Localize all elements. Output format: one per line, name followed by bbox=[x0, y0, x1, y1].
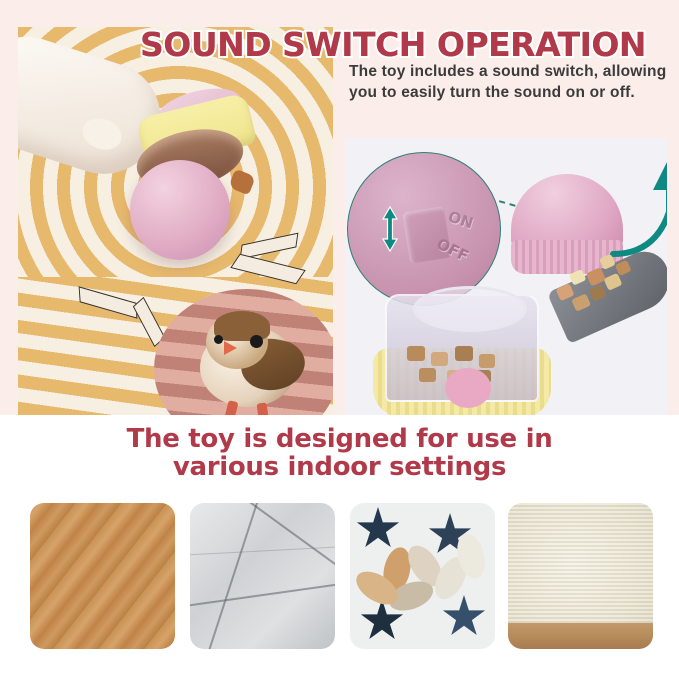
chamber-rim bbox=[413, 286, 527, 332]
carpet-wood-edge bbox=[508, 623, 653, 649]
usage-banner-line2-text: various indoor settings bbox=[173, 452, 506, 482]
page-description: The toy includes a sound switch, allowin… bbox=[349, 62, 667, 103]
floor-type-thumbnails bbox=[0, 503, 679, 649]
usage-banner-line2-wrap: various indoor settings bbox=[0, 452, 679, 482]
thumbnail-patterned-tile-floor bbox=[350, 503, 495, 649]
page-title: SOUND SWITCH OPERATION bbox=[140, 24, 670, 66]
wood-floor-texture bbox=[30, 503, 175, 649]
bird-eye bbox=[250, 335, 263, 348]
thumbnail-shag-carpet bbox=[508, 503, 653, 649]
switch-detail-photo: ON OFF bbox=[345, 138, 667, 415]
thumbnail-wood-floor bbox=[30, 503, 175, 649]
usage-banner-line1: The toy is designed for use in bbox=[0, 424, 679, 454]
patterned-tile-texture bbox=[350, 503, 495, 649]
bird-eye bbox=[214, 335, 223, 344]
infographic-page: ♪ ♫ ♬ ON OFF bbox=[0, 0, 679, 679]
bird-beak bbox=[224, 341, 237, 355]
bird-foot bbox=[257, 402, 270, 415]
cat-playing-photo: ♪ ♫ ♬ bbox=[18, 27, 333, 415]
switch-on-label: ON bbox=[446, 208, 476, 233]
usage-banner-line2: various indoor settings bbox=[167, 452, 512, 482]
marble-floor-texture bbox=[190, 503, 335, 649]
sound-switch-knob: ON OFF bbox=[347, 152, 501, 306]
base-heart-window bbox=[445, 368, 491, 408]
double-arrow-icon bbox=[380, 205, 400, 253]
switch-off-label: OFF bbox=[434, 235, 472, 266]
thumbnail-marble-tile-floor bbox=[190, 503, 335, 649]
toy-pink-ball bbox=[130, 160, 230, 260]
shag-carpet-texture bbox=[508, 503, 653, 649]
